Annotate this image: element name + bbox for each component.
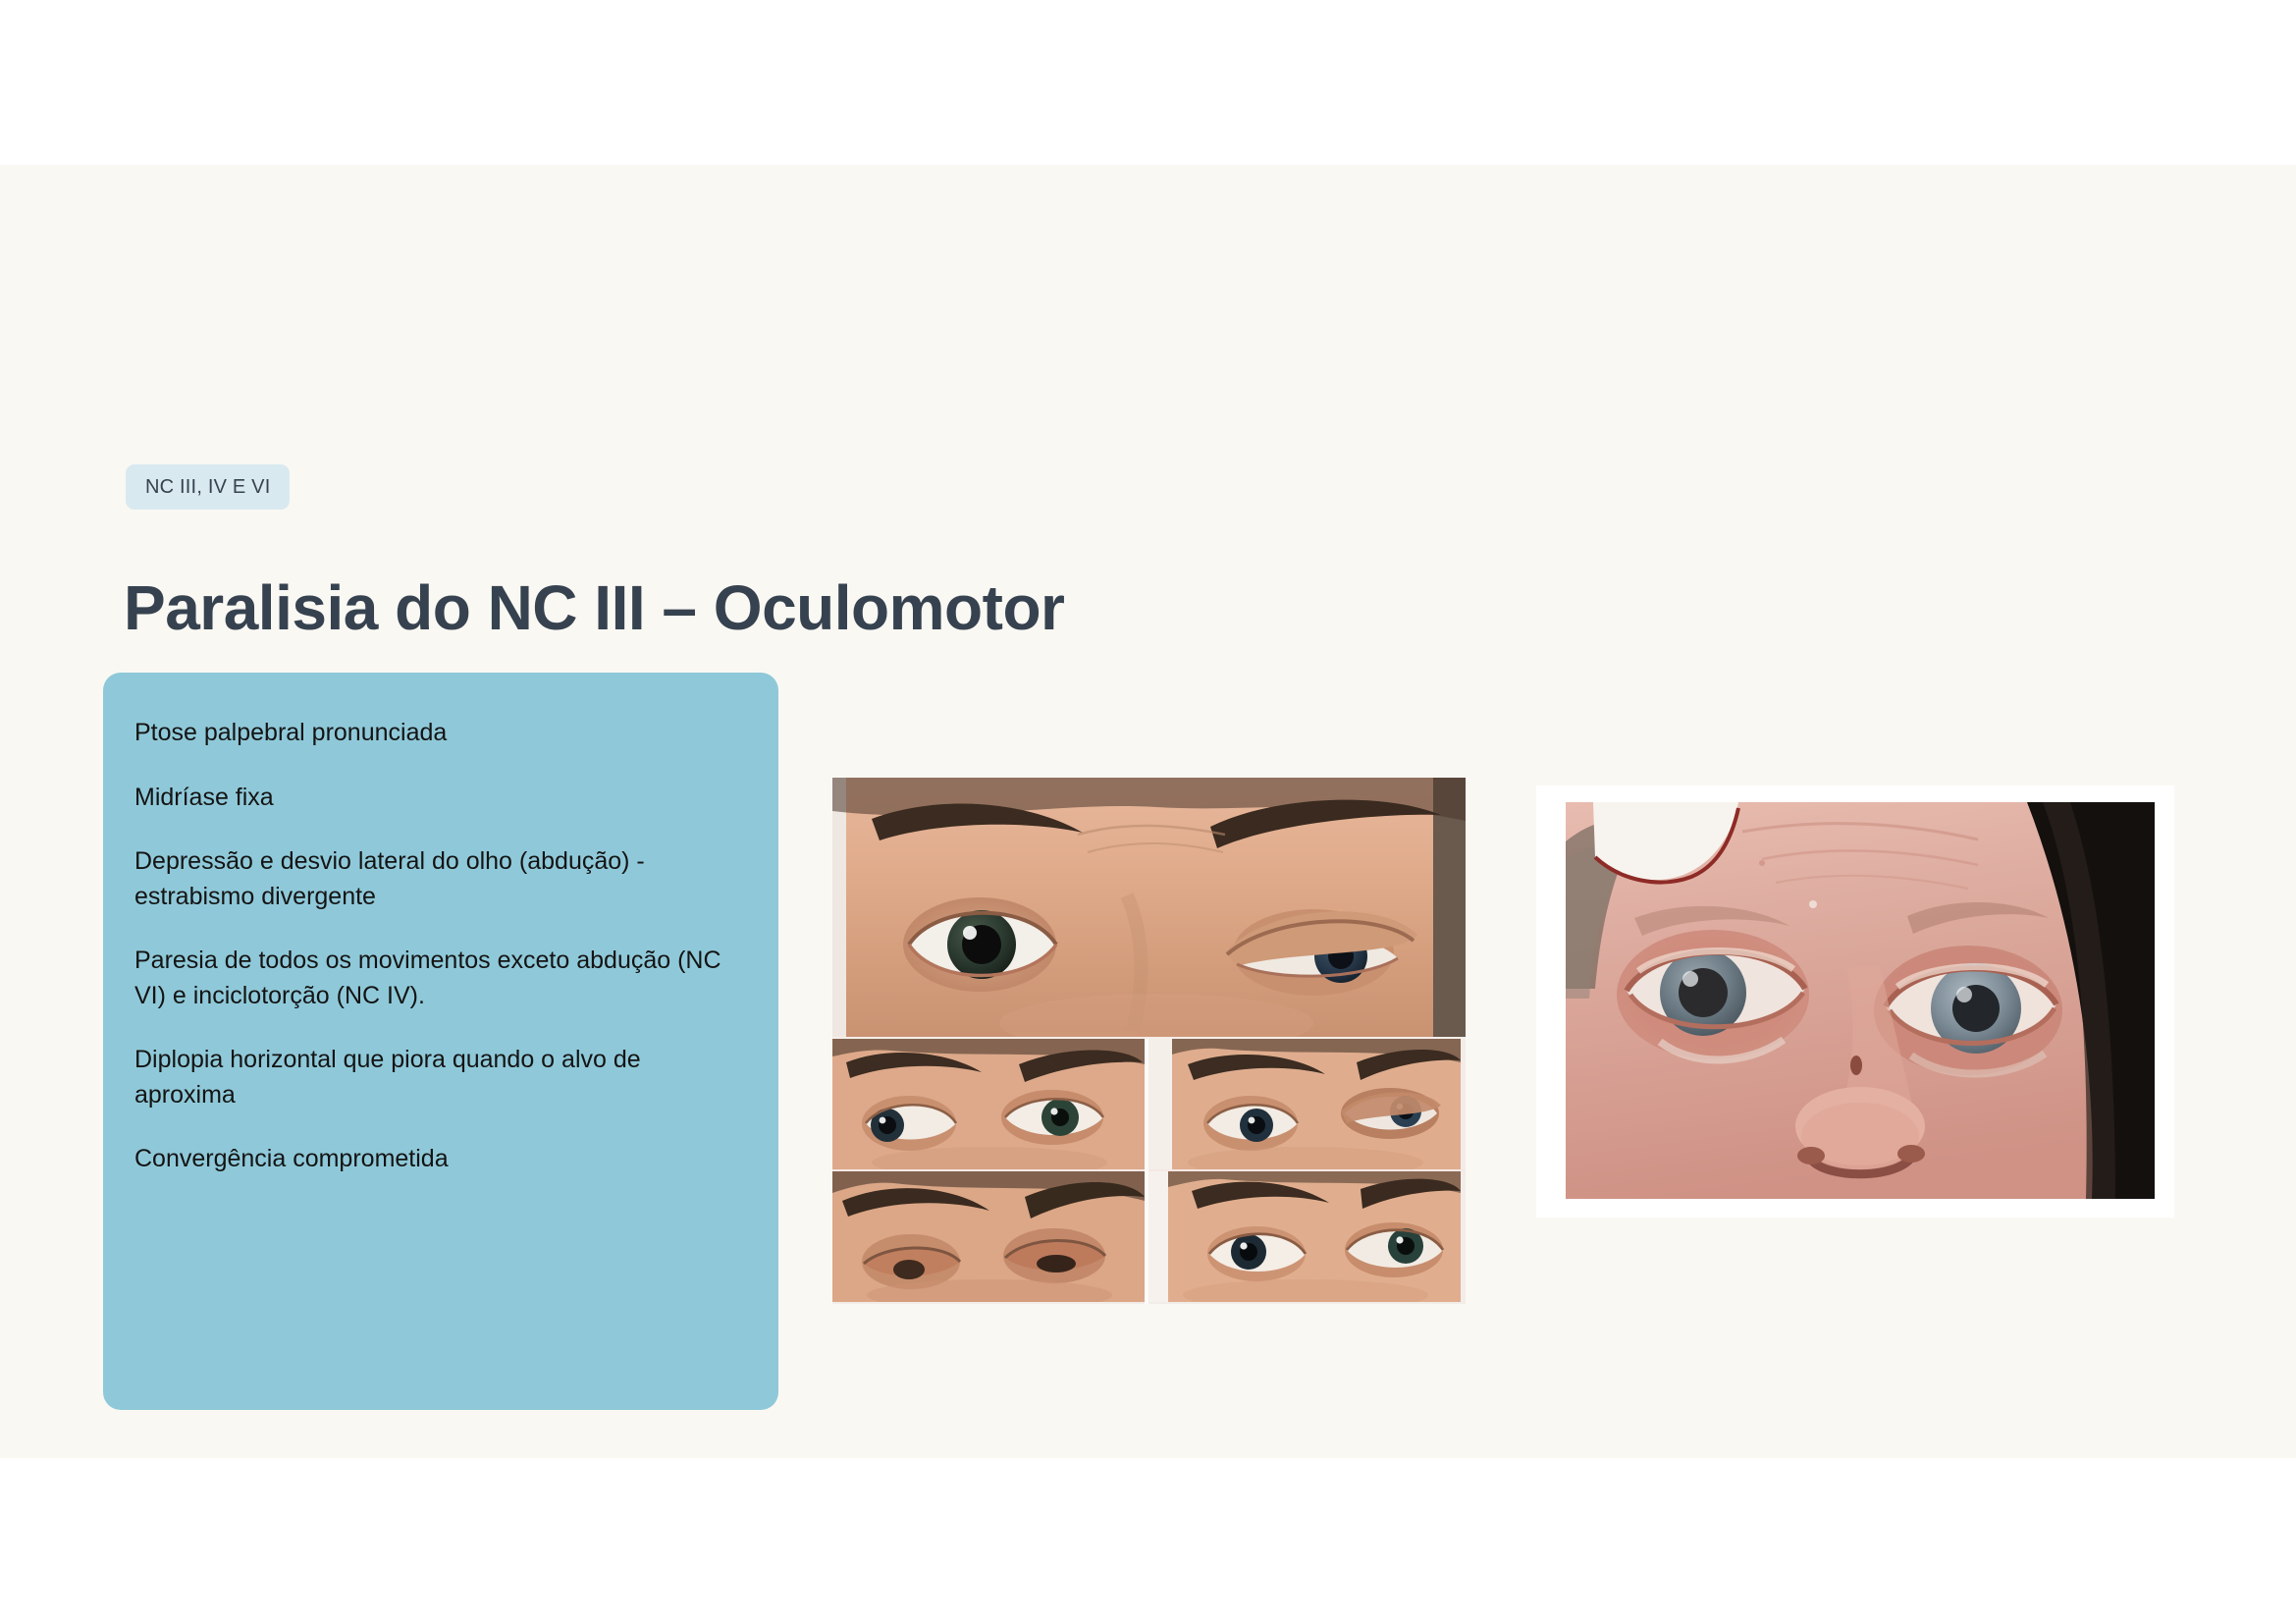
list-item: Depressão e desvio lateral do olho (abdu… [134, 844, 733, 914]
photo-gaze-down [832, 1171, 1145, 1302]
photo-primary-gaze [832, 778, 1466, 1037]
montage-panel-gaze-up [1148, 1171, 1461, 1302]
clinical-photo-portrait-frame [1536, 785, 2174, 1218]
section-badge-label: NC III, IV E VI [145, 476, 270, 499]
photo-gaze-left [1148, 1039, 1461, 1169]
list-item: Midríase fixa [134, 781, 733, 816]
montage-seam-vertical [1145, 1039, 1148, 1304]
montage-panel-primary-gaze [832, 778, 1466, 1037]
clinical-photo-portrait [1566, 802, 2155, 1199]
symptom-card: Ptose palpebral pronunciada Midríase fix… [103, 673, 778, 1410]
montage-panel-gaze-down [832, 1171, 1145, 1302]
montage-panel-gaze-right [832, 1039, 1145, 1169]
section-badge: NC III, IV E VI [126, 464, 290, 510]
symptom-list: Ptose palpebral pronunciada Midríase fix… [134, 716, 733, 1177]
photo-gaze-up [1148, 1171, 1461, 1302]
montage-panel-gaze-left [1148, 1039, 1461, 1169]
list-item: Diplopia horizontal que piora quando o a… [134, 1043, 733, 1112]
list-item: Ptose palpebral pronunciada [134, 716, 733, 751]
page-title: Paralisia do NC III – Oculomotor [124, 573, 1064, 642]
clinical-photo-montage [832, 778, 1466, 1304]
slide-canvas: NC III, IV E VI Paralisia do NC III – Oc… [0, 165, 2296, 1458]
list-item: Paresia de todos os movimentos exceto ab… [134, 944, 733, 1013]
list-item: Convergência comprometida [134, 1142, 733, 1177]
photo-elderly-patient [1566, 802, 2155, 1199]
photo-gaze-right [832, 1039, 1145, 1169]
